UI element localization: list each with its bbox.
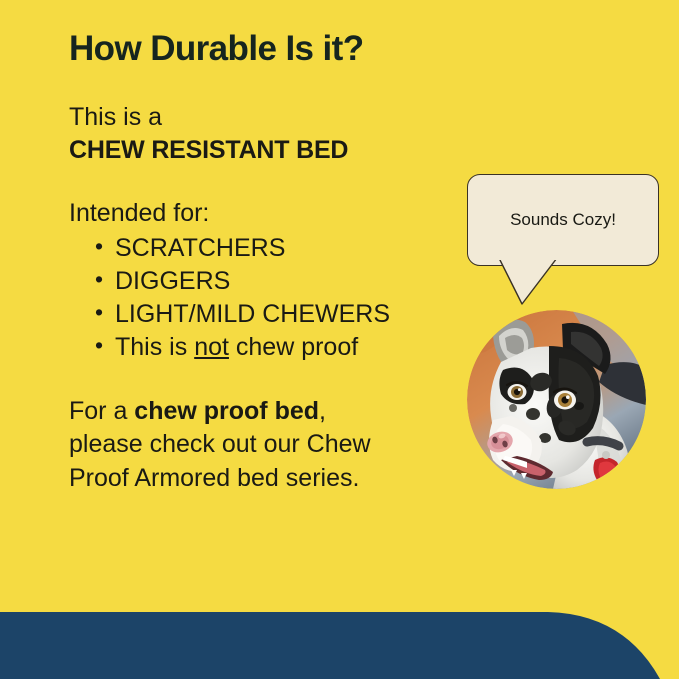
list-item: DIGGERS: [95, 265, 469, 298]
closing-line-2: please check out our Chew: [69, 430, 371, 458]
page-title: How Durable Is it?: [69, 30, 469, 69]
intended-for-list: SCRATCHERS DIGGERS LIGHT/MILD CHEWERS Th…: [69, 232, 469, 365]
speech-bubble: Sounds Cozy!: [467, 174, 659, 266]
lead-line-2-bold: CHEW RESISTANT BED: [69, 134, 469, 167]
content-column: How Durable Is it? This is a CHEW RESIST…: [69, 30, 469, 495]
list-item-not-chew-proof: This is not chew proof: [95, 331, 469, 364]
closing-bold-phrase: chew proof bed: [134, 397, 319, 425]
lead-paragraph: This is a CHEW RESISTANT BED: [69, 101, 469, 167]
speech-bubble-text: Sounds Cozy!: [502, 210, 624, 230]
bottom-wave-band: [0, 610, 679, 679]
list-item: SCRATCHERS: [95, 232, 469, 265]
intended-for-label: Intended for:: [69, 197, 469, 230]
closing-line-3: Proof Armored bed series.: [69, 464, 359, 492]
speech-bubble-tail-icon: [495, 258, 585, 314]
bullet-text-after: chew proof: [229, 333, 358, 361]
lead-line-1: This is a: [69, 103, 162, 131]
bullet-text-underlined: not: [194, 333, 229, 361]
dog-photo-illustration: [467, 310, 646, 489]
poster-canvas: How Durable Is it? This is a CHEW RESIST…: [0, 0, 679, 679]
closing-suffix: ,: [319, 397, 326, 425]
bottom-wave-shape: [0, 610, 679, 679]
list-item: LIGHT/MILD CHEWERS: [95, 298, 469, 331]
dog-photo: [467, 310, 646, 489]
closing-prefix: For a: [69, 397, 134, 425]
bullet-text-before: This is: [115, 333, 194, 361]
closing-paragraph: For a chew proof bed,please check out ou…: [69, 395, 469, 496]
